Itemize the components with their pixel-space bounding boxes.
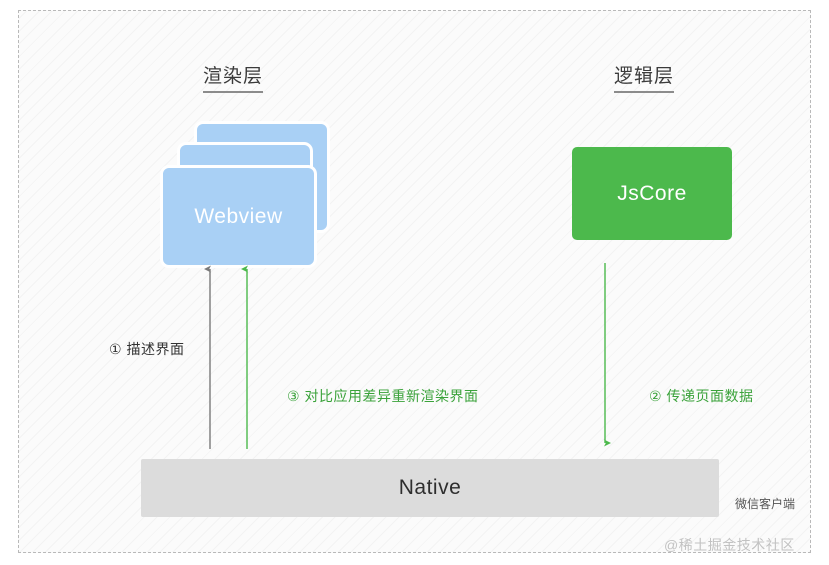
native-node: Native	[141, 459, 719, 517]
annotation-step-2: ② 传递页面数据	[649, 386, 753, 406]
annotation-step-3: ③ 对比应用差异重新渲染界面	[287, 386, 478, 406]
diagram-canvas: 渲染层 逻辑层 Webview JsCore	[18, 10, 811, 553]
watermark: @稀土掘金技术社区	[664, 535, 795, 553]
wechat-client-label: 微信客户端	[735, 495, 795, 512]
annotation-step-1: ① 描述界面	[109, 339, 184, 359]
native-label: Native	[399, 476, 462, 500]
